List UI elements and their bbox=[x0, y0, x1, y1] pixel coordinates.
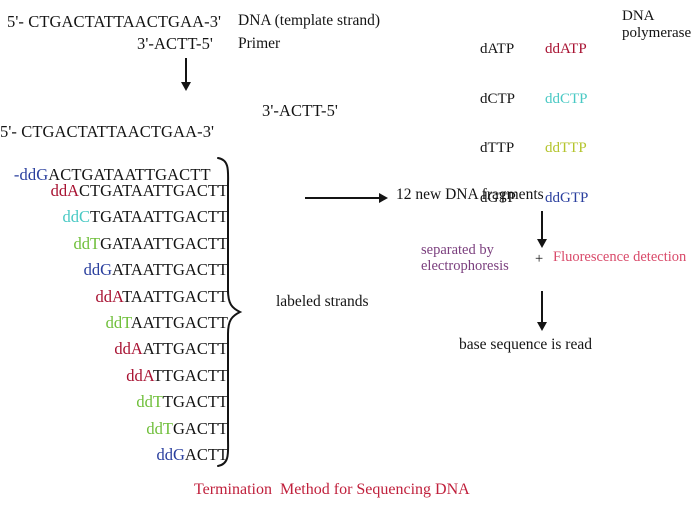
strand-dd-label: ddA bbox=[95, 287, 122, 306]
dntp-dttp: dTTP bbox=[480, 140, 516, 157]
strand-row: ddAATTGACTT bbox=[0, 336, 232, 362]
ddntp-ddttp: ddTTP bbox=[545, 140, 588, 157]
dna-polymerase-label-line2: polymerase bbox=[622, 25, 691, 42]
dntp-dctp: dCTP bbox=[480, 91, 516, 108]
electrophoresis-label-line1: separated by bbox=[421, 243, 494, 258]
ddntp-ddctp: ddCTP bbox=[545, 91, 588, 108]
strand-dd-label: ddT bbox=[106, 313, 131, 332]
strand-sequence: ATAATTGACTT bbox=[112, 260, 228, 279]
dntp-list: dATP dCTP dTTP dGTP bbox=[480, 8, 516, 239]
new-fragments-label: 12 new DNA fragments bbox=[396, 186, 544, 204]
strand-row: ddGACTT bbox=[0, 442, 232, 468]
strand-row: ddGATAATTGACTT bbox=[0, 257, 232, 283]
diagram-caption: Termination Method for Sequencing DNA bbox=[194, 481, 470, 499]
labeled-strands-brace bbox=[214, 156, 250, 468]
strand-sequence: GATAATTGACTT bbox=[100, 234, 228, 253]
strand-row: ddTAATTGACTT bbox=[0, 310, 232, 336]
strand-row: ddTGATAATTGACTT bbox=[0, 231, 232, 257]
strand-dd-label: ddT bbox=[73, 234, 100, 253]
ddntp-ddgtp: ddGTP bbox=[545, 190, 588, 207]
strand-row: ddACTGATAATTGACTT bbox=[0, 178, 232, 204]
plus-sign: + bbox=[535, 252, 543, 267]
strand-dd-label: ddG bbox=[156, 445, 184, 464]
sanger-sequencing-diagram: 5'- CTGACTATTAACTGAA-3' 3'-ACTT-5' DNA (… bbox=[0, 0, 700, 509]
strand-dd-label: ddA bbox=[114, 339, 142, 358]
dna-polymerase-label-line1: DNA bbox=[622, 8, 655, 25]
labeled-strand-list: ddACTGATAATTGACTT ddCTGATAATTGACTT ddTGA… bbox=[0, 178, 232, 468]
strand-row: ddTGACTT bbox=[0, 416, 232, 442]
strand-sequence: TAATTGACTT bbox=[122, 287, 228, 306]
strand-dd-label: ddG bbox=[84, 260, 112, 279]
top-primer-strand: 3'-ACTT-5' bbox=[137, 34, 213, 54]
ddntp-ddatp: ddATP bbox=[545, 41, 588, 58]
strand-row: ddTTGACTT bbox=[0, 389, 232, 415]
strand-dd-label: ddA bbox=[51, 181, 79, 200]
strand-dd-label: ddC bbox=[62, 207, 90, 226]
fluorescence-detection-label: Fluorescence detection bbox=[553, 250, 686, 265]
base-sequence-read-label: base sequence is read bbox=[459, 336, 592, 354]
dntp-datp: dATP bbox=[480, 41, 516, 58]
primer-label: Primer bbox=[238, 35, 280, 53]
reaction-template-strand: 5'- CTGACTATTAACTGAA-3' bbox=[0, 122, 214, 142]
strand-row: ddCTGATAATTGACTT bbox=[0, 204, 232, 230]
ddntp-list: ddATP ddCTP ddTTP ddGTP bbox=[545, 8, 588, 239]
electrophoresis-label-line2: electrophoresis bbox=[421, 259, 509, 274]
strand-dd-label: ddT bbox=[146, 419, 173, 438]
strand-row: ddATTGACTT bbox=[0, 363, 232, 389]
strand-sequence: CTGATAATTGACTT bbox=[79, 181, 228, 200]
reaction-primer-strand: 3'-ACTT-5' bbox=[262, 101, 338, 121]
strand-sequence: TGATAATTGACTT bbox=[90, 207, 228, 226]
strand-row: ddATAATTGACTT bbox=[0, 284, 232, 310]
strand-dd-label: ddT bbox=[136, 392, 163, 411]
top-template-strand: 5'- CTGACTATTAACTGAA-3' bbox=[7, 12, 221, 32]
labeled-strands-label: labeled strands bbox=[276, 293, 369, 311]
strand-dd-label: ddA bbox=[126, 366, 153, 385]
template-strand-label: DNA (template strand) bbox=[238, 12, 380, 30]
